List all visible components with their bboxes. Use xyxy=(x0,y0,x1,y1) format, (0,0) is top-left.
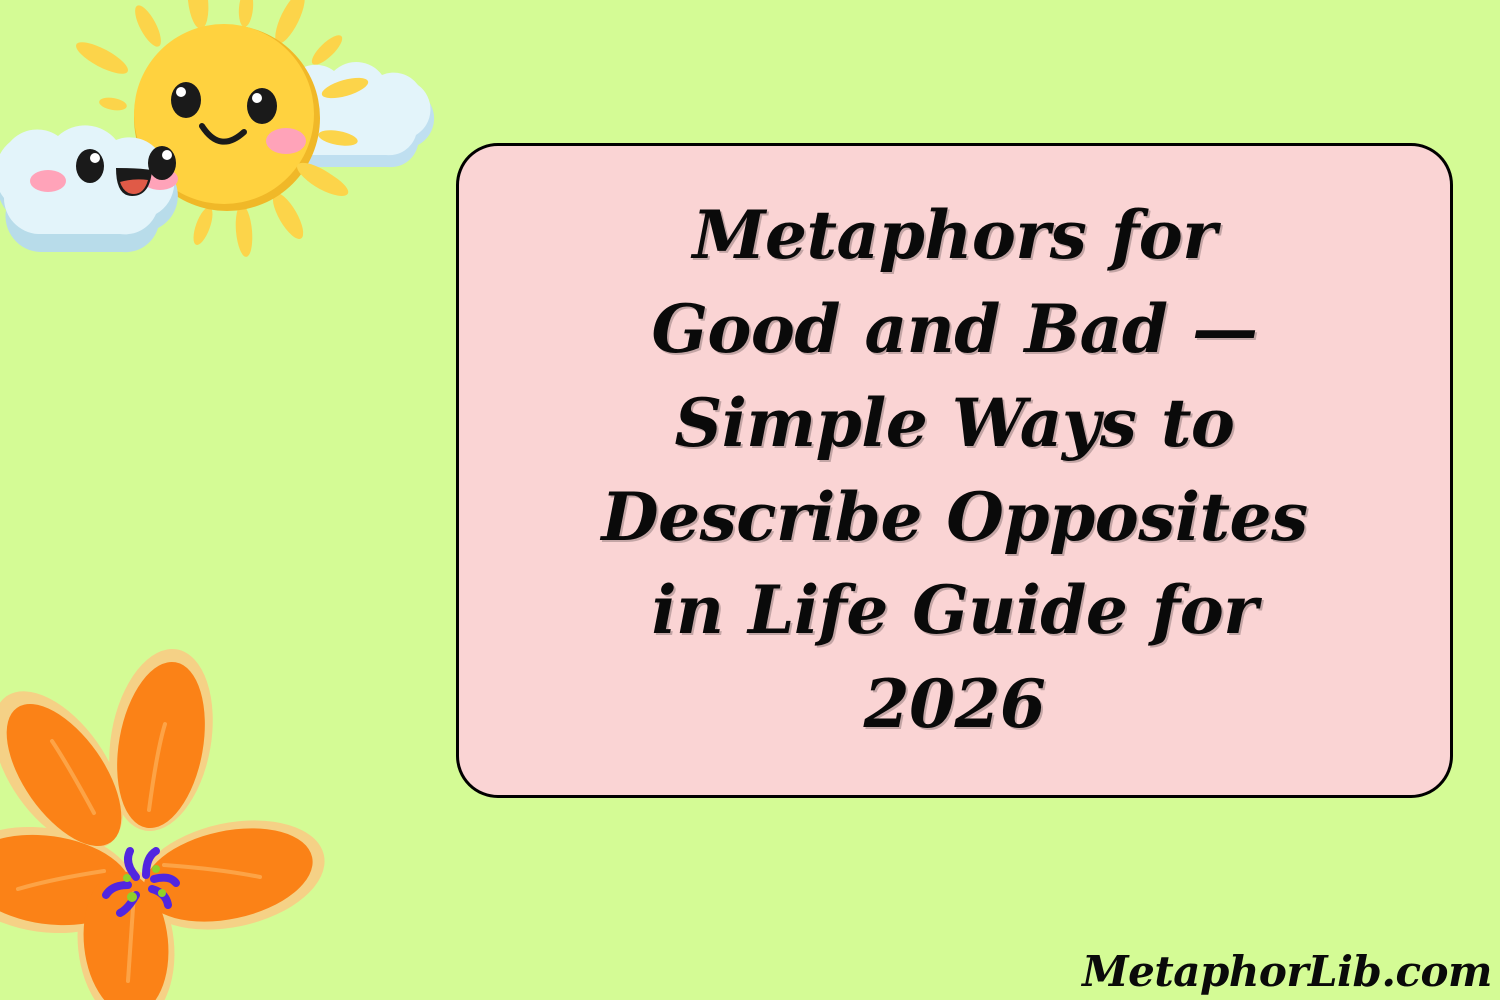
poster-canvas: Metaphors for Good and Bad — Simple Ways… xyxy=(0,0,1500,1000)
sun-icon xyxy=(134,24,320,211)
page-title: Metaphors for Good and Bad — Simple Ways… xyxy=(493,189,1416,751)
flower-petals xyxy=(0,655,321,1000)
flower-petal-upper-left xyxy=(0,685,144,865)
flower-svg xyxy=(0,645,336,1000)
title-line-3: Simple Ways to xyxy=(675,384,1235,462)
weather-svg xyxy=(0,0,460,308)
title-line-4: Describe Opposites xyxy=(601,478,1307,556)
flower-petal-top xyxy=(105,655,217,835)
cloud-mouth-icon xyxy=(116,168,152,196)
cloud-back-icon xyxy=(282,62,434,167)
cloud-eye-right-icon xyxy=(148,146,176,180)
title-line-6: 2026 xyxy=(864,665,1046,743)
sun-eye-left-icon xyxy=(171,82,201,118)
sun-eye-right-icon xyxy=(247,88,277,124)
cloud-blush-left-icon xyxy=(30,170,66,192)
sun-rays-icon xyxy=(72,0,368,258)
orange-flower-illustration xyxy=(0,645,336,1000)
flower-petal-right xyxy=(135,814,322,936)
title-line-2: Good and Bad — xyxy=(651,290,1257,368)
cloud-blush-right-icon xyxy=(142,168,178,190)
title-line-5: in Life Guide for xyxy=(651,571,1257,649)
flower-stamen-icon xyxy=(106,851,176,913)
cloud-eye-left-icon xyxy=(76,149,104,183)
sun-blush-icon xyxy=(266,128,306,154)
site-brand: MetaphorLib.com xyxy=(1082,947,1492,996)
sun-smile-icon xyxy=(202,126,244,142)
flower-petal-bottom xyxy=(77,867,176,1000)
flower-petal-edges xyxy=(0,645,335,1000)
title-card: Metaphors for Good and Bad — Simple Ways… xyxy=(456,143,1453,798)
cloud-tongue-icon xyxy=(120,179,148,194)
sun-and-clouds-illustration xyxy=(0,0,460,308)
sun-rays-overlay-icon xyxy=(293,74,370,199)
flower-petal-highlights xyxy=(18,724,260,981)
title-line-1: Metaphors for xyxy=(692,196,1216,274)
cloud-front-icon xyxy=(0,125,178,252)
flower-petal-left xyxy=(0,825,137,936)
